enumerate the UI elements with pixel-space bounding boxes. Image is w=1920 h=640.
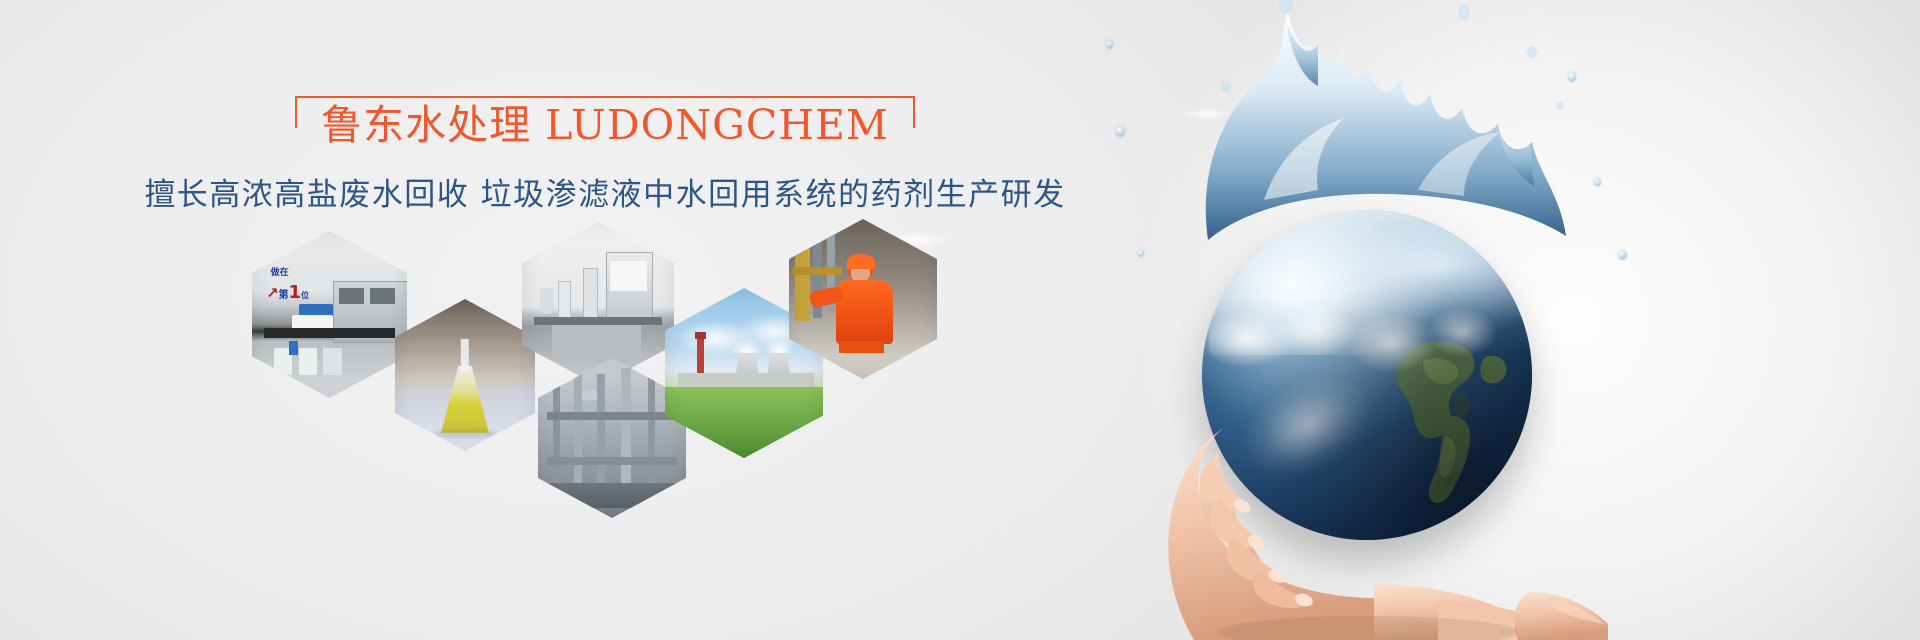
headline-block: 鲁东水处理 LUDONGCHEM 擅长高浓高盐废水回收 垃圾渗滤液中水回用系统的…	[0, 96, 1210, 214]
cupped-hands	[1138, 356, 1608, 640]
title-bracket-frame: 鲁东水处理 LUDONGCHEM	[295, 96, 915, 151]
title-top-rule	[295, 96, 915, 98]
bracket-top-right-icon	[887, 96, 915, 128]
bracket-top-left-icon	[295, 96, 323, 128]
hex-laboratory-room[interactable]: 做在 ↗第1位	[252, 231, 407, 398]
banner-hero: 鲁东水处理 LUDONGCHEM 擅长高浓高盐废水回收 垃圾渗滤液中水回用系统的…	[0, 0, 1920, 640]
hex-pipework-plant[interactable]	[538, 358, 686, 518]
water-droplet	[1568, 72, 1576, 82]
hex-vignette	[252, 231, 407, 398]
hex-yellow-reagent-flask[interactable]	[395, 299, 535, 451]
page-subtitle: 擅长高浓高盐废水回收 垃圾渗滤液中水回用系统的药剂生产研发	[0, 169, 1210, 214]
hex-lab-equipment[interactable]	[522, 222, 674, 386]
page-title: 鲁东水处理 LUDONGCHEM	[321, 102, 889, 149]
water-droplet	[1618, 250, 1627, 260]
water-droplet	[1594, 178, 1601, 186]
water-droplet	[1138, 250, 1144, 257]
